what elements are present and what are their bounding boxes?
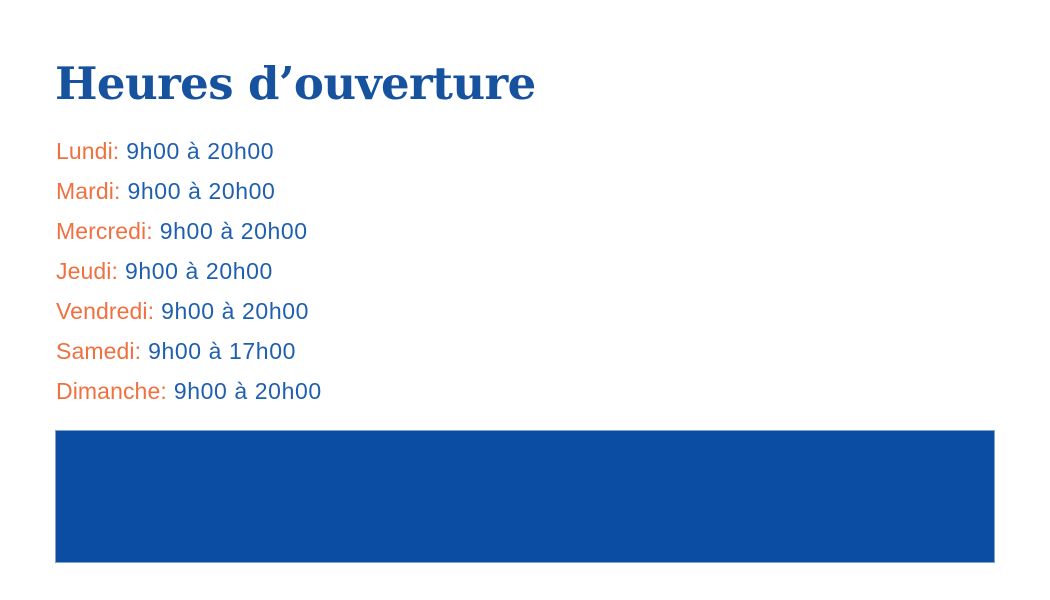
day-hours: 9h00 à 20h00: [126, 138, 274, 164]
list-item: Mercredi:9h00 à 20h00: [56, 211, 616, 251]
slide-canvas: Heures d’ouverture Lundi:9h00 à 20h00 Ma…: [0, 0, 1050, 600]
day-hours: 9h00 à 20h00: [160, 218, 308, 244]
day-label: Samedi:: [56, 338, 141, 364]
day-label: Jeudi:: [56, 258, 118, 284]
list-item: Dimanche:9h00 à 20h00: [56, 371, 616, 411]
day-hours: 9h00 à 17h00: [148, 338, 296, 364]
day-hours: 9h00 à 20h00: [128, 178, 276, 204]
list-item: Vendredi:9h00 à 20h00: [56, 291, 616, 331]
list-item: Mardi:9h00 à 20h00: [56, 171, 616, 211]
list-item: Samedi:9h00 à 17h00: [56, 331, 616, 371]
day-hours: 9h00 à 20h00: [125, 258, 273, 284]
blue-banner-block: [55, 430, 995, 563]
page-title: Heures d’ouverture: [55, 59, 536, 109]
day-label: Mercredi:: [56, 218, 153, 244]
day-label: Vendredi:: [56, 298, 154, 324]
opening-hours-list: Lundi:9h00 à 20h00 Mardi:9h00 à 20h00 Me…: [56, 131, 616, 411]
day-label: Lundi:: [56, 138, 119, 164]
list-item: Jeudi:9h00 à 20h00: [56, 251, 616, 291]
day-label: Mardi:: [56, 178, 121, 204]
day-label: Dimanche:: [56, 378, 167, 404]
list-item: Lundi:9h00 à 20h00: [56, 131, 616, 171]
day-hours: 9h00 à 20h00: [174, 378, 322, 404]
day-hours: 9h00 à 20h00: [161, 298, 309, 324]
